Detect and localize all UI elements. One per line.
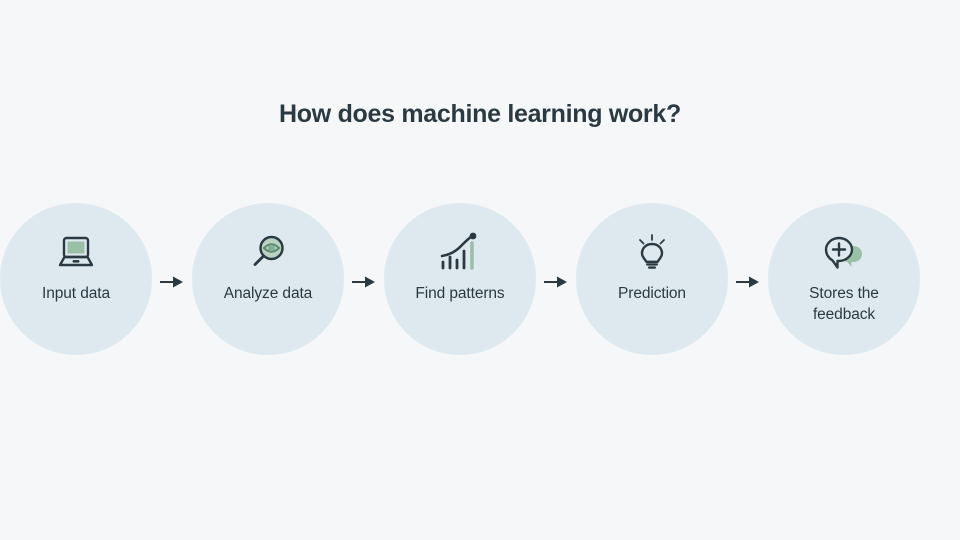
- flow-step-label: Prediction: [618, 283, 686, 304]
- flow-step-find-patterns: Find patterns: [384, 203, 536, 355]
- arrow-right-icon: [536, 275, 576, 289]
- page-title: How does machine learning work?: [0, 100, 960, 129]
- magnifier-eye-icon: [247, 232, 289, 274]
- arrow-right-icon: [344, 275, 384, 289]
- flow-step-input-data: Input data: [0, 203, 152, 355]
- flow-step-analyze-data: Analyze data: [192, 203, 344, 355]
- flow-step-label: Input data: [42, 283, 110, 304]
- flow-step-label: Find patterns: [415, 283, 504, 304]
- bar-chart-trend-icon: [437, 232, 483, 274]
- speech-bubble-plus-icon: [822, 232, 866, 274]
- laptop-icon: [55, 232, 97, 274]
- flow-step-stores-the-feedback: Stores the feedback: [768, 203, 920, 355]
- process-flow: Input data Analyze data: [0, 203, 960, 355]
- flow-step-label: Stores the feedback: [788, 283, 900, 325]
- lightbulb-icon: [633, 232, 671, 274]
- arrow-right-icon: [728, 275, 768, 289]
- flow-step-label: Analyze data: [224, 283, 312, 304]
- arrow-right-icon: [152, 275, 192, 289]
- flow-step-prediction: Prediction: [576, 203, 728, 355]
